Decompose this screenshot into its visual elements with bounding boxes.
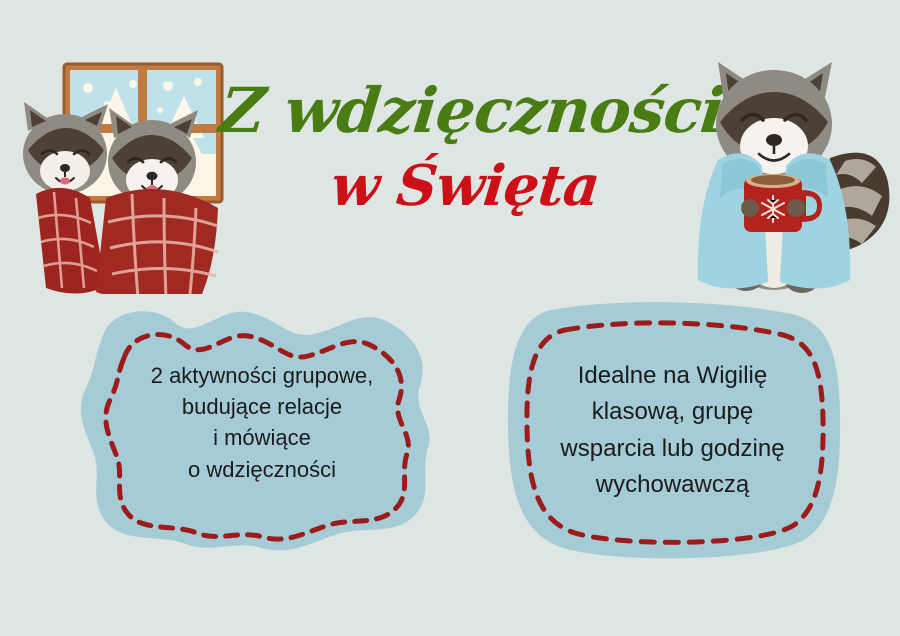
left-box-text: 2 aktywności grupowe, budujące relacje i… <box>62 360 462 485</box>
left-box-line-2: budujące relacje <box>96 391 428 422</box>
poster-canvas: Z wdzięcznością w Święta <box>0 0 900 636</box>
title-line-2: w Święta <box>217 157 713 216</box>
left-info-box: 2 aktywności grupowe, budujące relacje i… <box>62 300 462 560</box>
right-info-box: Idealne na Wigilię klasową, grupę wsparc… <box>495 296 850 564</box>
left-box-line-4: o wdzięczności <box>96 454 428 485</box>
raccoon-pair-graphic <box>23 102 218 294</box>
right-box-line-3: wsparcia lub godzinę <box>519 431 826 467</box>
right-box-line-4: wychowawczą <box>519 467 826 503</box>
right-box-text: Idealne na Wigilię klasową, grupę wsparc… <box>495 358 850 504</box>
right-box-line-1: Idealne na Wigilię <box>519 358 826 394</box>
title-line-1: Z wdzięcznością <box>217 78 714 143</box>
left-box-line-3: i mówiące <box>96 422 428 453</box>
raccoon-with-blue-blanket-and-cocoa-mug-illustration <box>662 38 894 300</box>
poster-title: Z wdzięcznością w Święta <box>220 78 710 248</box>
left-box-line-1: 2 aktywności grupowe, <box>96 360 428 391</box>
two-raccoons-in-plaid-blanket-by-window-illustration <box>8 26 248 294</box>
right-box-line-2: klasową, grupę <box>519 394 826 430</box>
